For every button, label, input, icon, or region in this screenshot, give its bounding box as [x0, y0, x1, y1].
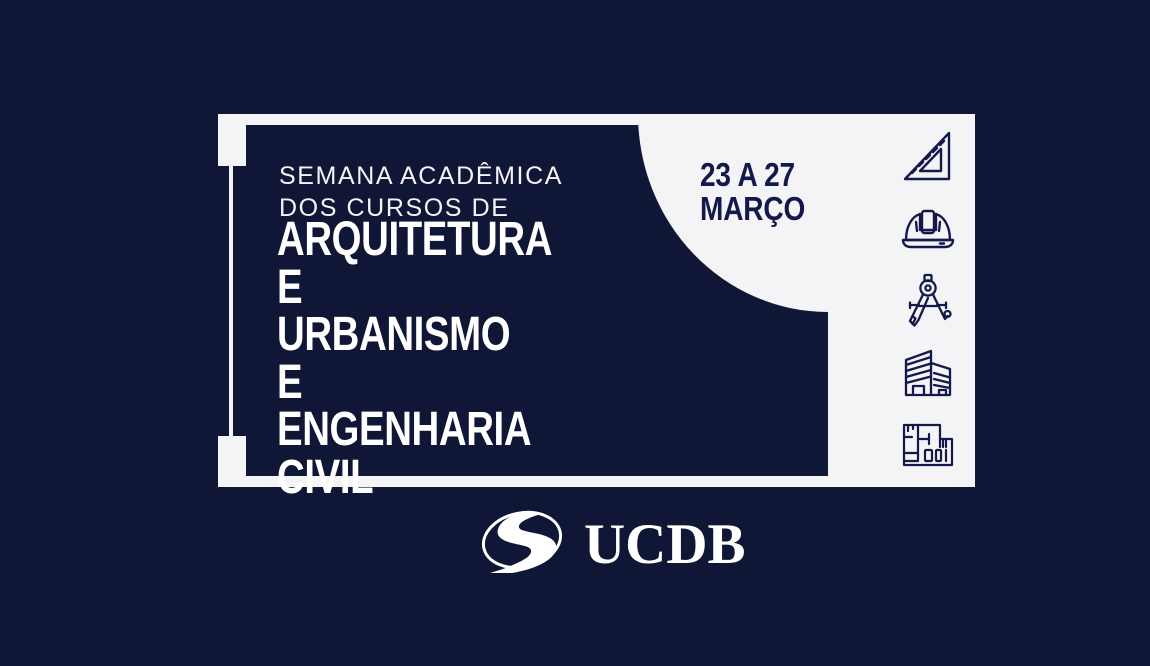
- frame-left-thin-line: [229, 160, 233, 442]
- ucdb-logo: UCDB: [478, 503, 718, 581]
- ucdb-swoosh-logo: [478, 505, 574, 579]
- hard-hat-icon: [896, 197, 960, 261]
- buildings-icon: [896, 341, 960, 405]
- ucdb-wordmark: UCDB: [584, 516, 746, 573]
- icon-strip: [884, 120, 972, 482]
- poster-canvas: SEMANA ACADÊMICA DOS CURSOS DE ARQUITETU…: [0, 0, 1150, 666]
- set-square-icon: [896, 124, 960, 188]
- floor-plan-icon: [896, 414, 960, 478]
- event-date: 23 A 27 MARÇO: [700, 158, 811, 227]
- frame-bracket-top-left: [218, 114, 246, 166]
- compass-divider-icon: [896, 269, 960, 333]
- event-headline: ARQUITETURA E URBANISMO E ENGENHARIA CIV…: [277, 216, 541, 501]
- date-panel-filler: [828, 114, 880, 476]
- frame-bracket-bottom-left: [218, 436, 246, 487]
